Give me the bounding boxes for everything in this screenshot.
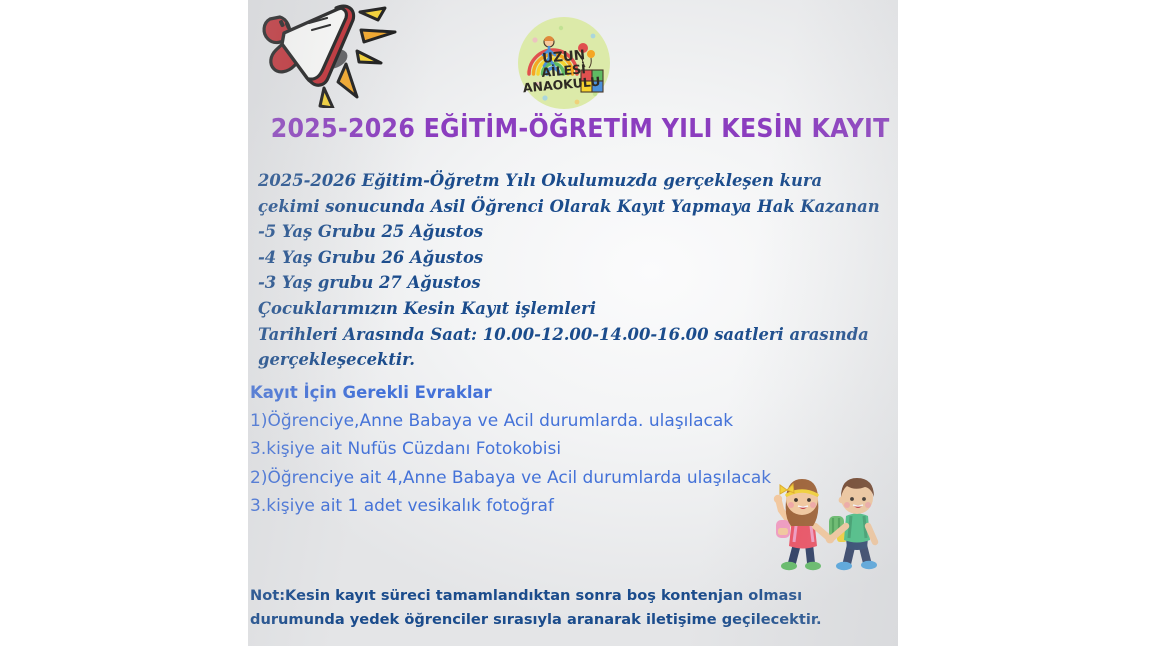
body-line: çekimi sonucunda Asil Öğrenci Olarak Kay…	[258, 194, 898, 220]
poster-title: 2025-2026 EĞİTİM-ÖĞRETİM YILI KESİN KAYI…	[271, 114, 876, 144]
two-children-walking-illustration	[761, 468, 898, 578]
document-item: 1)Öğrenciye,Anne Babaya ve Acil durumlar…	[250, 407, 898, 435]
body-line: gerçekleşecektir.	[258, 347, 898, 373]
body-line: -4 Yaş Grubu 26 Ağustos	[258, 245, 898, 271]
body-line: Çocuklarımızın Kesin Kayıt işlemleri	[258, 296, 898, 322]
school-logo: UZUN AİLESİ ANAOKULU	[515, 14, 613, 112]
body-line: Tarihleri Arasında Saat: 10.00-12.00-14.…	[258, 322, 898, 348]
body-line: -3 Yaş grubu 27 Ağustos	[258, 270, 898, 296]
body-line: 2025-2026 Eğitim-Öğretm Yılı Okulumuzda …	[258, 168, 898, 194]
note-line: durumunda yedek öğrenciler sırasıyla ara…	[250, 608, 898, 632]
announcement-body: 2025-2026 Eğitim-Öğretm Yılı Okulumuzda …	[258, 168, 898, 373]
megaphone-icon	[254, 0, 404, 108]
document-item: 3.kişiye ait Nufüs Cüzdanı Fotokobisi	[250, 435, 898, 463]
screenshot-canvas: UZUN AİLESİ ANAOKULU 2025-2026 EĞİTİM-ÖĞ…	[0, 0, 1150, 646]
note-line: Not:Kesin kayıt süreci tamamlandıktan so…	[250, 584, 898, 608]
footer-note: Not:Kesin kayıt süreci tamamlandıktan so…	[250, 584, 898, 631]
announcement-poster: UZUN AİLESİ ANAOKULU 2025-2026 EĞİTİM-ÖĞ…	[248, 0, 898, 646]
documents-heading: Kayıt İçin Gerekli Evraklar	[250, 379, 898, 407]
body-line: -5 Yaş Grubu 25 Ağustos	[258, 219, 898, 245]
